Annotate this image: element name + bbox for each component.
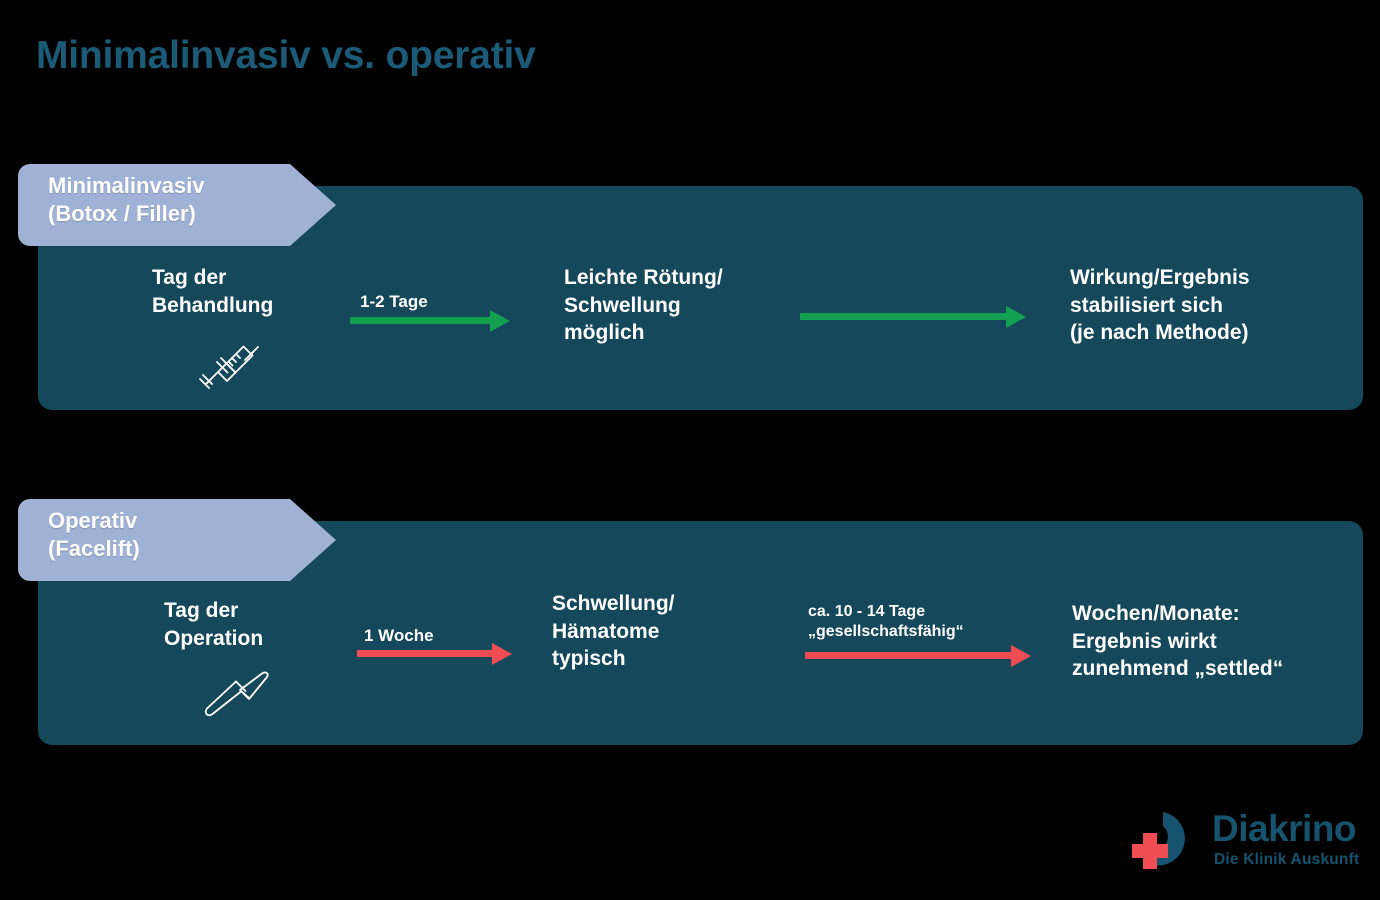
stage-label-tag-der-operation: Tag der Operation [164,597,263,652]
arrow-stabilisierung [800,306,1028,328]
row-banner-minimalinvasiv: Minimalinvasiv (Botox / Filler) [18,164,336,246]
syringe-icon [196,342,266,392]
stage-label-schwellung-haematome: Schwellung/ Hämatome typisch [552,590,675,673]
logo-wordmark: Diakrino [1212,808,1356,850]
row-banner-operativ: Operativ (Facelift) [18,499,336,581]
stage-label-tag-der-behandlung: Tag der Behandlung [152,264,273,319]
arrow-1-2-tage [350,310,510,332]
page-title: Minimalinvasiv vs. operativ [36,34,536,78]
stage-label-wirkung-ergebnis: Wirkung/Ergebnis stabilisiert sich (je n… [1070,264,1250,347]
stage-label-leichte-roetung: Leichte Rötung/ Schwellung möglich [564,264,723,347]
stage-label-wochen-monate: Wochen/Monate: Ergebnis wirkt zunehmend … [1072,600,1283,683]
arrow-label-1-2-tage: 1-2 Tage [360,292,428,313]
arrow-label-gesellschaftsfaehig: ca. 10 - 14 Tage „gesellschaftsfähig“ [808,602,964,641]
arrow-gesellschaftsfaehig [805,645,1033,667]
scalpel-icon [202,668,272,720]
logo-mark-icon [1118,806,1208,882]
arrow-label-1-woche: 1 Woche [364,626,434,647]
infographic-canvas: Minimalinvasiv vs. operativ Minimalinvas… [0,0,1380,900]
brand-logo: Diakrino Die Klinik Auskunft [1118,804,1368,884]
row-banner-label: Operativ (Facelift) [48,507,140,563]
logo-tagline: Die Klinik Auskunft [1214,851,1359,869]
row-banner-label: Minimalinvasiv (Botox / Filler) [48,172,205,228]
